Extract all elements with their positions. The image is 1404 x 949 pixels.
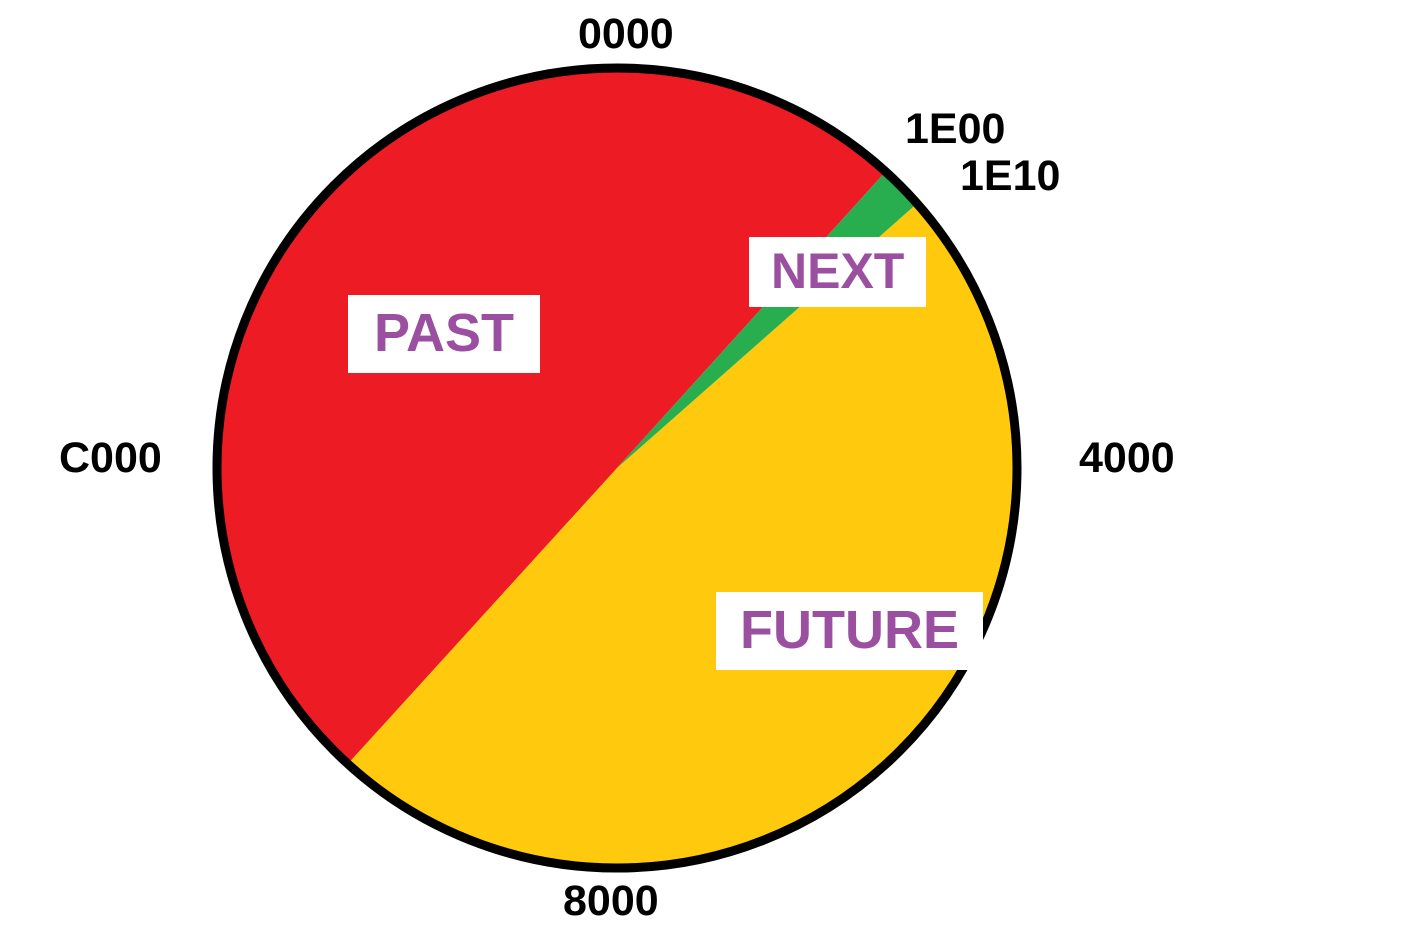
tick-label-4000: 4000: [1079, 437, 1175, 480]
tick-label-8000: 8000: [563, 880, 659, 923]
diagram-canvas: 0000 1E00 1E10 4000 8000 C000 PAST NEXT …: [0, 0, 1404, 949]
tick-label-0000: 0000: [578, 13, 674, 56]
tick-label-1E00: 1E00: [905, 108, 1005, 151]
region-label-future: FUTURE: [716, 592, 983, 670]
region-label-past: PAST: [348, 295, 540, 373]
tick-label-C000: C000: [59, 437, 162, 480]
region-label-next: NEXT: [749, 237, 926, 307]
sequence-wheel: [0, 0, 1404, 949]
tick-label-1E10: 1E10: [960, 155, 1060, 198]
